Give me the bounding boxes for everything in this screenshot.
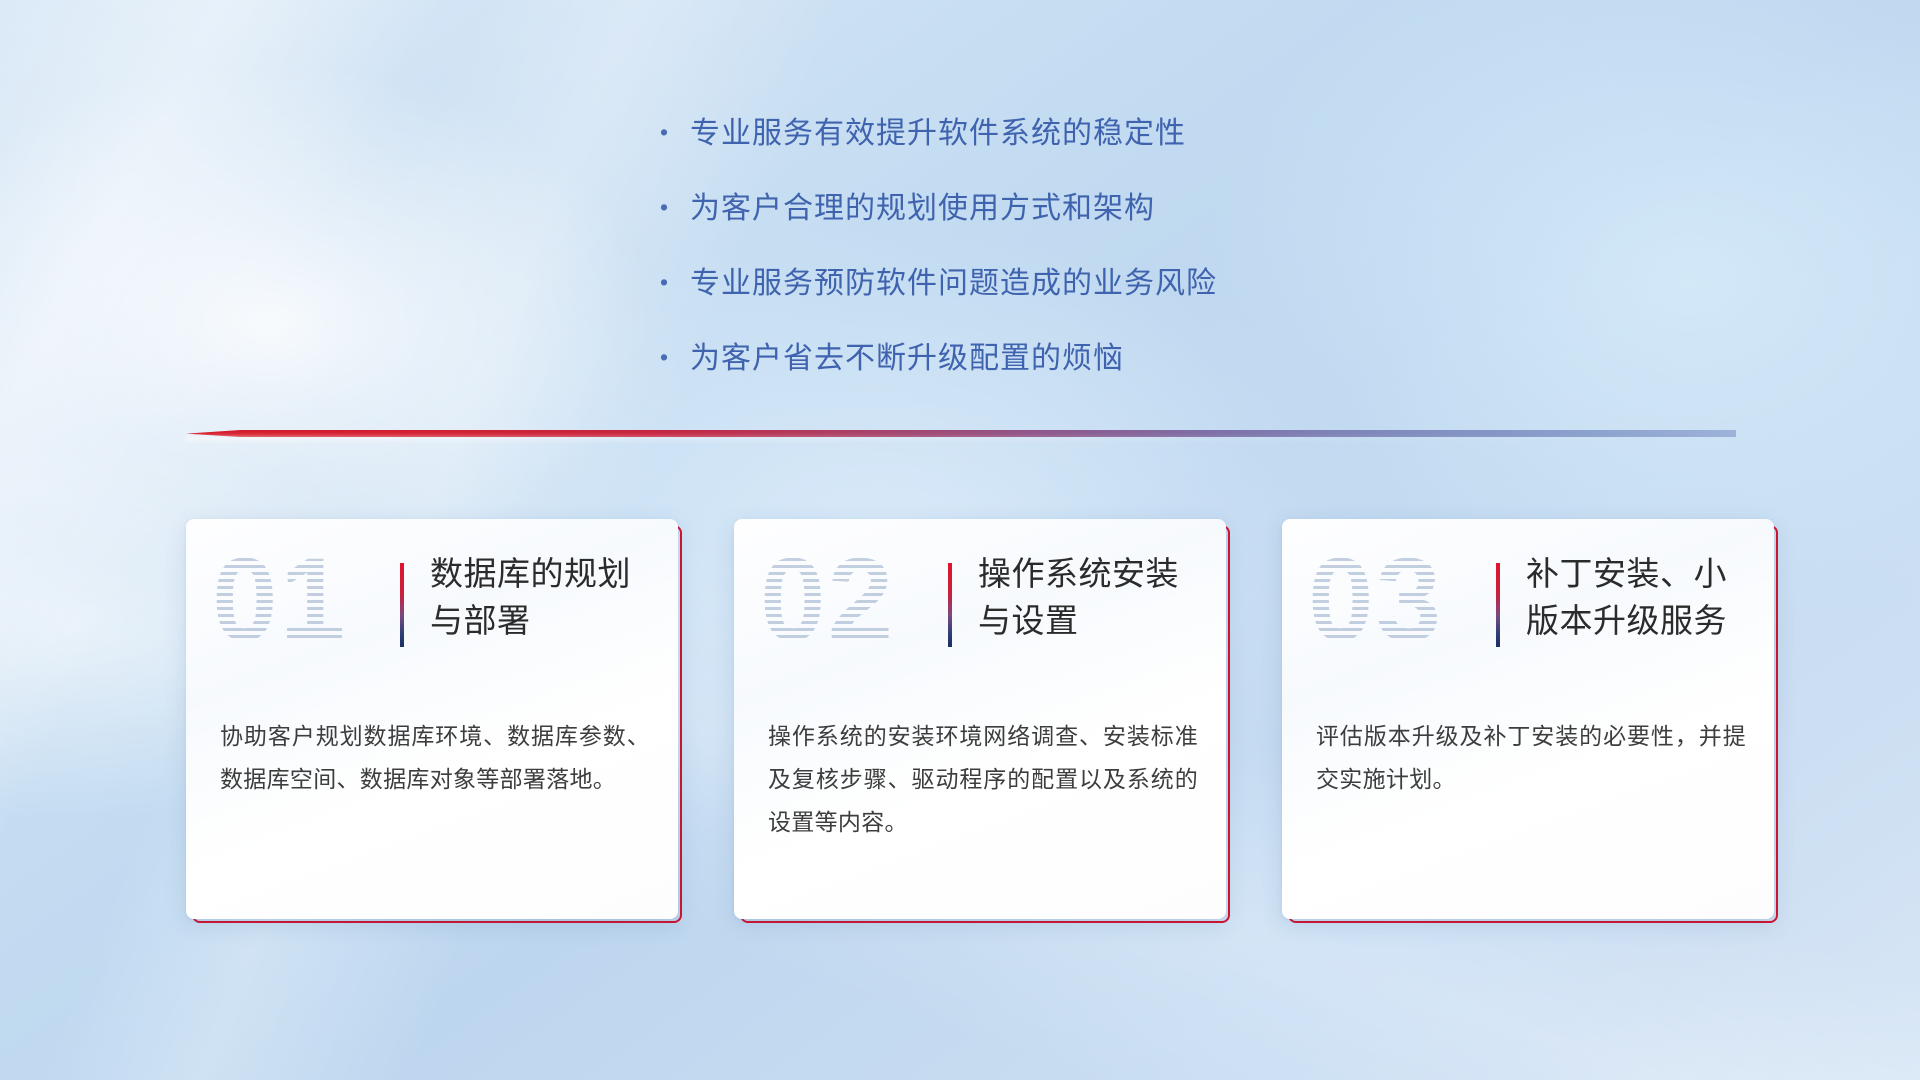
card-title-accent-bar bbox=[948, 563, 952, 647]
service-card-list: 01 数据库的规划与部署 协助客户规划数据库环境、数据库参数、数据库空间、数据库… bbox=[186, 519, 1774, 919]
card-title-accent-bar bbox=[400, 563, 404, 647]
card-description: 评估版本升级及补丁安装的必要性，并提交实施计划。 bbox=[1316, 715, 1746, 801]
bullet-marker-icon: • bbox=[660, 121, 690, 144]
bullet-text: 为客户省去不断升级配置的烦恼 bbox=[690, 333, 1124, 377]
card-number: 01 bbox=[212, 541, 347, 659]
bullet-item: • 为客户合理的规划使用方式和架构 bbox=[660, 183, 1520, 227]
bullet-text: 专业服务预防软件问题造成的业务风险 bbox=[690, 258, 1217, 302]
card-title: 数据库的规划与部署 bbox=[430, 551, 660, 645]
card-title-accent-bar bbox=[1496, 563, 1500, 647]
bullet-marker-icon: • bbox=[660, 196, 690, 219]
bullet-item: • 专业服务有效提升软件系统的稳定性 bbox=[660, 108, 1520, 152]
service-card[interactable]: 02 操作系统安装与设置 操作系统的安装环境网络调查、安装标准及复核步骤、驱动程… bbox=[734, 519, 1226, 919]
card-number: 02 bbox=[760, 541, 895, 659]
card-body: 03 补丁安装、小版本升级服务 评估版本升级及补丁安装的必要性，并提交实施计划。 bbox=[1282, 519, 1774, 919]
bullet-item: • 专业服务预防软件问题造成的业务风险 bbox=[660, 258, 1520, 302]
bullet-marker-icon: • bbox=[660, 271, 690, 294]
service-card[interactable]: 01 数据库的规划与部署 协助客户规划数据库环境、数据库参数、数据库空间、数据库… bbox=[186, 519, 678, 919]
bullet-item: • 为客户省去不断升级配置的烦恼 bbox=[660, 333, 1520, 377]
card-header: 01 数据库的规划与部署 bbox=[186, 519, 678, 699]
card-description: 操作系统的安装环境网络调查、安装标准及复核步骤、驱动程序的配置以及系统的设置等内… bbox=[768, 715, 1198, 845]
bullet-text: 为客户合理的规划使用方式和架构 bbox=[690, 183, 1155, 227]
bullet-marker-icon: • bbox=[660, 346, 690, 369]
card-header: 02 操作系统安装与设置 bbox=[734, 519, 1226, 699]
card-header: 03 补丁安装、小版本升级服务 bbox=[1282, 519, 1774, 699]
divider-glow bbox=[186, 436, 1736, 441]
benefits-bullet-list: • 专业服务有效提升软件系统的稳定性 • 为客户合理的规划使用方式和架构 • 专… bbox=[660, 108, 1520, 408]
card-body: 01 数据库的规划与部署 协助客户规划数据库环境、数据库参数、数据库空间、数据库… bbox=[186, 519, 678, 919]
card-number: 03 bbox=[1308, 541, 1443, 659]
card-description: 协助客户规划数据库环境、数据库参数、数据库空间、数据库对象等部署落地。 bbox=[220, 715, 650, 801]
service-card[interactable]: 03 补丁安装、小版本升级服务 评估版本升级及补丁安装的必要性，并提交实施计划。 bbox=[1282, 519, 1774, 919]
bullet-text: 专业服务有效提升软件系统的稳定性 bbox=[690, 108, 1186, 152]
section-divider bbox=[186, 427, 1736, 441]
slide-canvas: • 专业服务有效提升软件系统的稳定性 • 为客户合理的规划使用方式和架构 • 专… bbox=[0, 0, 1920, 1080]
card-title: 补丁安装、小版本升级服务 bbox=[1526, 551, 1756, 645]
card-body: 02 操作系统安装与设置 操作系统的安装环境网络调查、安装标准及复核步骤、驱动程… bbox=[734, 519, 1226, 919]
card-title: 操作系统安装与设置 bbox=[978, 551, 1208, 645]
